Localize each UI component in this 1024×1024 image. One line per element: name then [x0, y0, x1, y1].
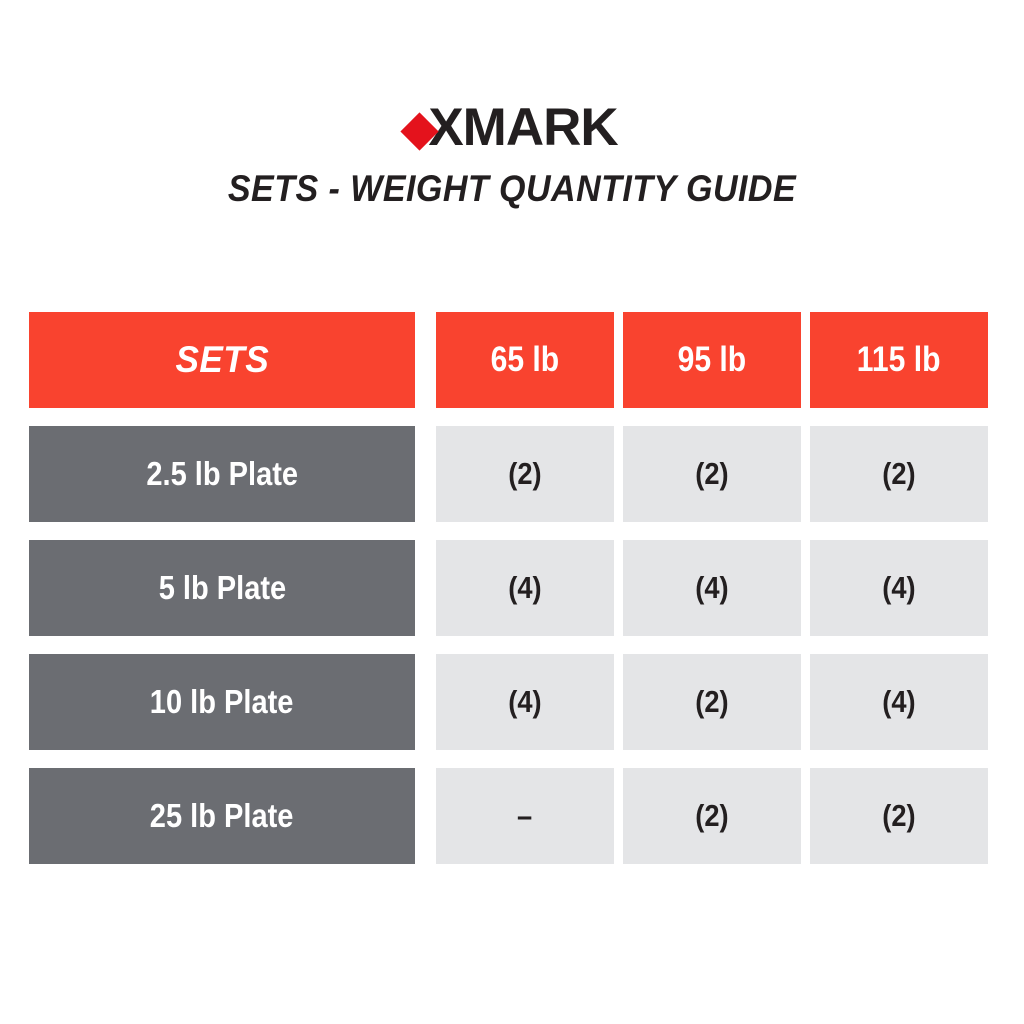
- weight-quantity-guide-page: XMARK SETS - WEIGHT QUANTITY GUIDE SETS …: [0, 0, 1024, 1024]
- data-value: –: [517, 798, 532, 834]
- table-header-row: SETS 65 lb 95 lb 115 lb: [29, 312, 988, 408]
- column-header-65lb: 65 lb: [436, 312, 614, 408]
- row-label-cell: 25 lb Plate: [29, 768, 415, 864]
- row-label: 5 lb Plate: [158, 569, 286, 607]
- data-cell: (4): [810, 540, 988, 636]
- data-value: (4): [882, 684, 915, 720]
- data-value: (2): [695, 456, 728, 492]
- data-cell: (2): [623, 654, 801, 750]
- data-value: (2): [695, 684, 728, 720]
- data-cell: (2): [810, 426, 988, 522]
- data-value: (2): [882, 798, 915, 834]
- data-cell: (4): [810, 654, 988, 750]
- table-corner-header-cell: SETS: [29, 312, 415, 408]
- column-header-label: 115 lb: [857, 340, 941, 380]
- data-cell: (2): [623, 768, 801, 864]
- data-cell: (4): [436, 540, 614, 636]
- data-value: (4): [695, 570, 728, 606]
- table-row: 5 lb Plate (4) (4) (4): [29, 540, 988, 636]
- row-label-cell: 10 lb Plate: [29, 654, 415, 750]
- row-label: 25 lb Plate: [150, 797, 294, 835]
- data-value: (4): [508, 570, 541, 606]
- data-cell: (2): [810, 768, 988, 864]
- data-value: (2): [695, 798, 728, 834]
- brand-logo: XMARK: [0, 98, 1024, 156]
- table-row: 2.5 lb Plate (2) (2) (2): [29, 426, 988, 522]
- brand-name: XMARK: [428, 101, 617, 154]
- column-header-115lb: 115 lb: [810, 312, 988, 408]
- data-value: (4): [508, 684, 541, 720]
- data-cell: –: [436, 768, 614, 864]
- column-header-95lb: 95 lb: [623, 312, 801, 408]
- data-cell: (2): [623, 426, 801, 522]
- page-title: SETS - WEIGHT QUANTITY GUIDE: [41, 168, 983, 210]
- row-label-cell: 2.5 lb Plate: [29, 426, 415, 522]
- table-corner-header-label: SETS: [175, 339, 269, 381]
- data-value: (2): [508, 456, 541, 492]
- column-header-label: 65 lb: [491, 340, 560, 380]
- table-row: 25 lb Plate – (2) (2): [29, 768, 988, 864]
- weight-quantity-table: SETS 65 lb 95 lb 115 lb 2.5 lb Plate (2)…: [29, 312, 988, 864]
- column-header-label: 95 lb: [678, 340, 747, 380]
- row-label: 2.5 lb Plate: [146, 455, 298, 493]
- row-label: 10 lb Plate: [150, 683, 294, 721]
- data-cell: (2): [436, 426, 614, 522]
- data-cell: (4): [623, 540, 801, 636]
- table-row: 10 lb Plate (4) (2) (4): [29, 654, 988, 750]
- data-cell: (4): [436, 654, 614, 750]
- row-label-cell: 5 lb Plate: [29, 540, 415, 636]
- data-value: (2): [882, 456, 915, 492]
- data-value: (4): [882, 570, 915, 606]
